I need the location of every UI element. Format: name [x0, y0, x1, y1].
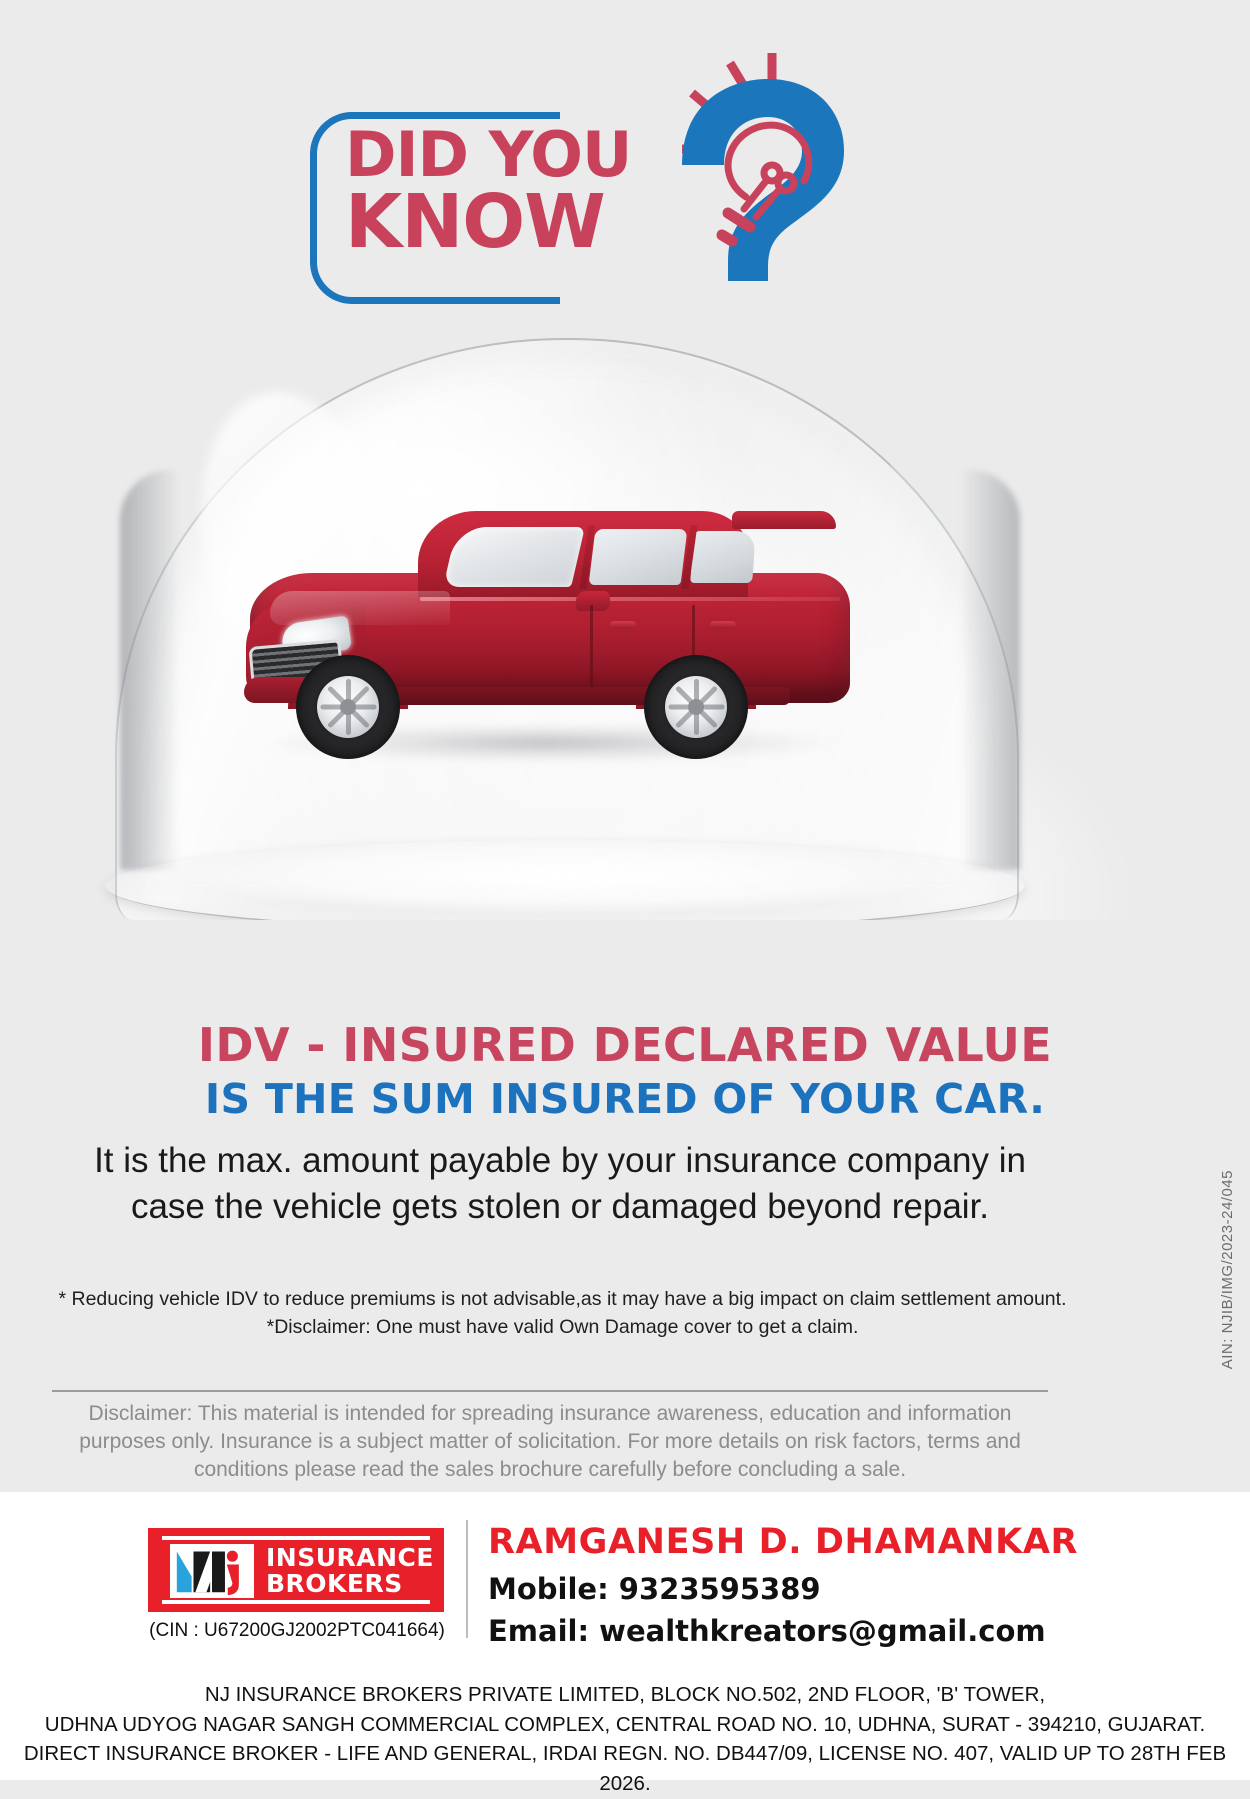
agent-mobile[interactable]: Mobile: 9323595389 [488, 1572, 821, 1606]
windshield [443, 527, 585, 587]
dome-edge-left [120, 470, 180, 870]
disclaimer-text: Disclaimer: This material is intended fo… [55, 1400, 1045, 1484]
door-line-front [590, 605, 593, 691]
logo-red-box: INSURANCE BROKERS [148, 1528, 444, 1612]
body-copy: It is the max. amount payable by your in… [60, 1138, 1060, 1230]
front-rim [317, 676, 379, 738]
address-line-3: DIRECT INSURANCE BROKER - LIFE AND GENER… [20, 1739, 1230, 1798]
logo-word-insurance: INSURANCE [266, 1545, 434, 1571]
footer: INSURANCE BROKERS (CIN : U67200GJ2002PTC… [0, 1492, 1250, 1780]
logo-wordmark: INSURANCE BROKERS [266, 1545, 434, 1598]
front-wheel [296, 655, 400, 759]
logo-word-brokers: BROKERS [266, 1571, 434, 1597]
nj-logo[interactable]: INSURANCE BROKERS [148, 1528, 448, 1612]
divider [52, 1390, 1048, 1392]
agent-name: RAMGANESH D. DHAMANKAR [488, 1522, 1078, 1562]
headline-primary: IDV - INSURED DECLARED VALUE [0, 1018, 1250, 1072]
cin-number: (CIN : U67200GJ2002PTC041664) [142, 1620, 452, 1642]
ain-code: AIN: NJIB/IMG/2023-24/045 [1219, 1170, 1236, 1369]
logo-bar-bottom [162, 1600, 430, 1604]
rear-hub [688, 699, 704, 715]
rear-door-window [690, 531, 756, 583]
company-address: NJ INSURANCE BROKERS PRIVATE LIMITED, BL… [20, 1680, 1230, 1799]
red-car [240, 505, 860, 770]
door-handle-rear [710, 621, 736, 629]
front-door-window [589, 529, 688, 585]
rear-wheel [644, 655, 748, 759]
front-hub [340, 699, 356, 715]
address-line-2: UDHNA UDYOG NAGAR SANGH COMMERCIAL COMPL… [20, 1710, 1230, 1740]
did-you-know-header: DID YOU KNOW [0, 0, 1250, 330]
footer-divider [466, 1520, 468, 1638]
headline-secondary: IS THE SUM INSURED OF YOUR CAR. [0, 1075, 1250, 1123]
nj-monogram-icon [170, 1544, 254, 1598]
agent-email[interactable]: Email: wealthkreators@gmail.com [488, 1614, 1046, 1648]
rear-rim [665, 676, 727, 738]
beltline-highlight [420, 597, 840, 601]
logo-bar-top [162, 1536, 430, 1540]
address-line-1: NJ INSURANCE BROKERS PRIVATE LIMITED, BL… [20, 1680, 1230, 1710]
dome-edge-right [960, 470, 1020, 870]
car-spoiler [732, 511, 836, 529]
door-handle-front [610, 621, 636, 629]
hero-image [0, 320, 1250, 920]
side-mirror [576, 591, 610, 611]
asterisk-note: * Reducing vehicle IDV to reduce premium… [55, 1285, 1070, 1342]
question-mark-bulb-icon [620, 45, 850, 325]
